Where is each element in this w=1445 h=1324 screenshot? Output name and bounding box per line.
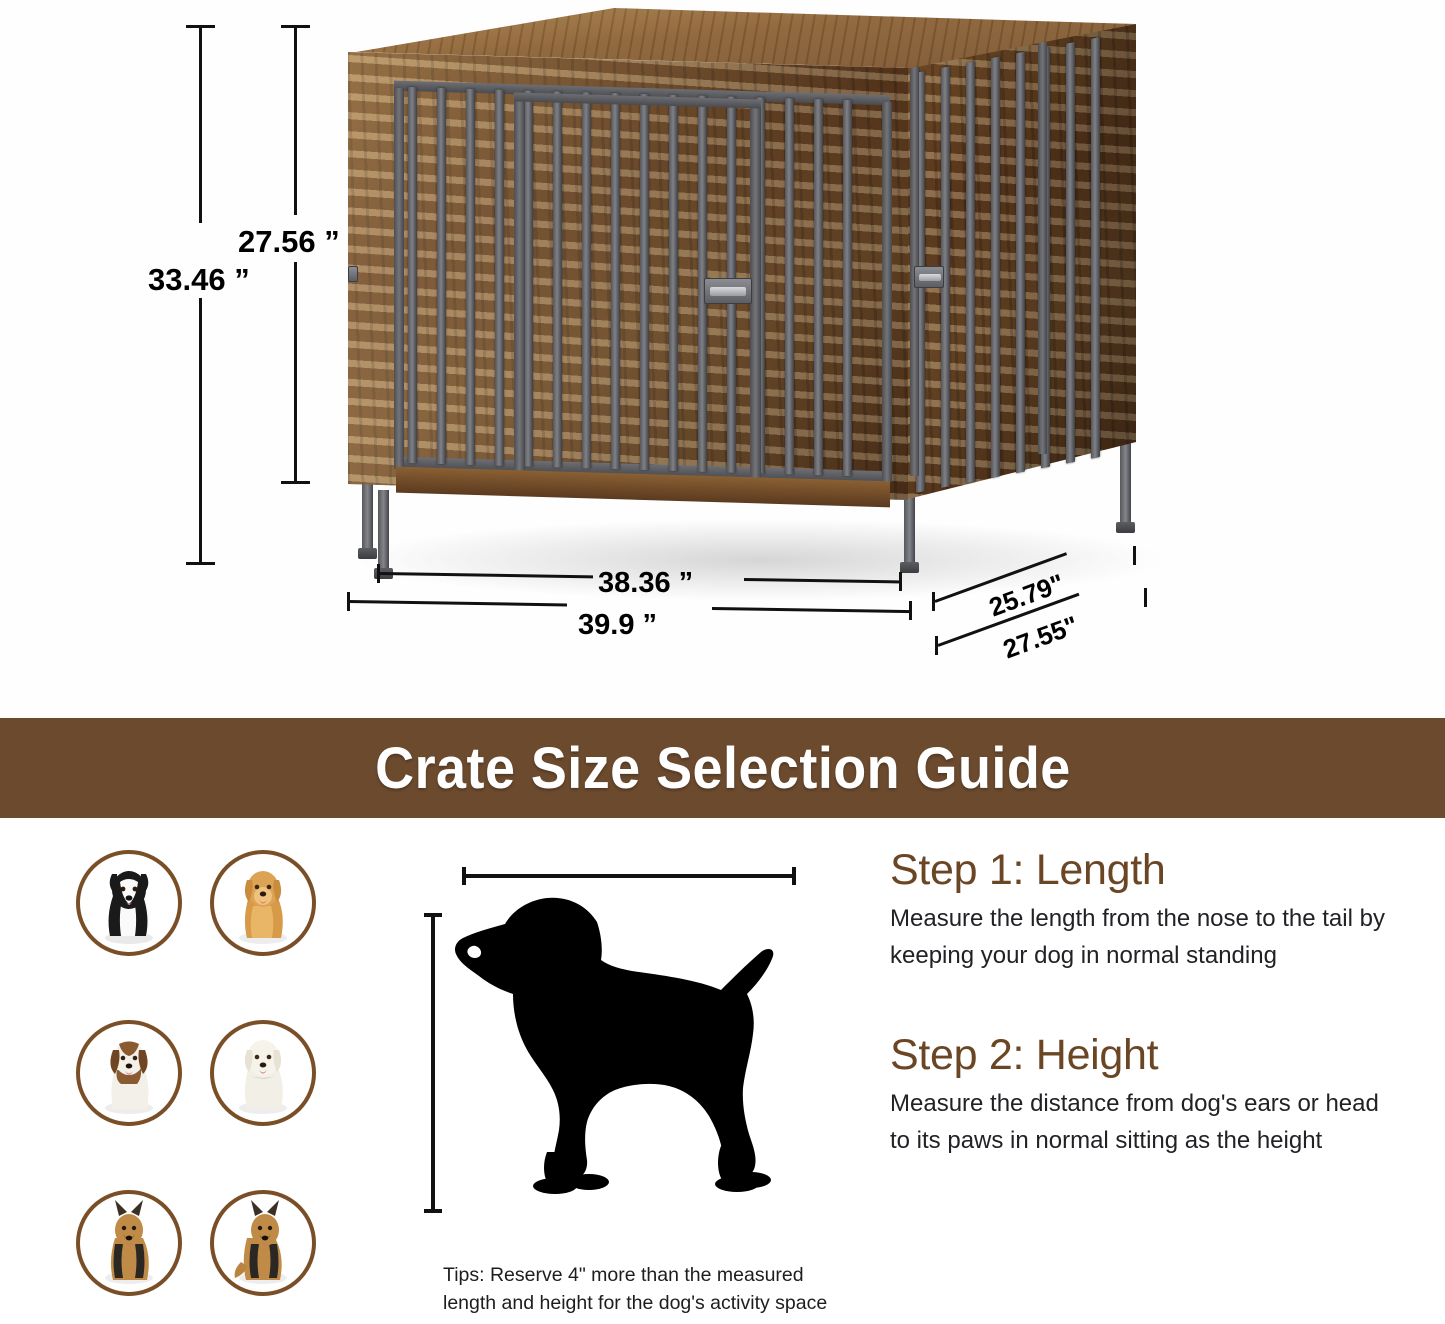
- side-bar: [991, 56, 1000, 478]
- dog-crate-product-image: [338, 8, 1138, 628]
- border-collie-icon: [93, 860, 165, 946]
- breed-circle-border-collie: [76, 850, 182, 956]
- german-shepherd-icon: [227, 1200, 299, 1286]
- front-bar: [669, 95, 678, 471]
- front-bar: [843, 100, 852, 476]
- dim-38-cap-left: [377, 564, 380, 583]
- front-bar: [814, 99, 823, 475]
- crate-leg-front-left: [378, 490, 389, 572]
- dim-2755-cap-left: [935, 636, 938, 655]
- side-bar: [1016, 52, 1025, 474]
- side-bar: [966, 61, 975, 483]
- crate-foot-right: [1116, 522, 1135, 533]
- dim-27h-line-upper: [294, 25, 297, 215]
- front-bar: [553, 91, 562, 467]
- front-door-hinge-post: [514, 96, 525, 478]
- crate-front-bars: [408, 87, 880, 477]
- front-bar: [466, 89, 475, 465]
- left-side-hinge: [348, 266, 358, 282]
- front-bar: [611, 93, 620, 469]
- german-shepherd-icon: [93, 1200, 165, 1286]
- length-measure-bar: [462, 874, 796, 878]
- front-bar: [524, 90, 533, 466]
- step-block-2: Step 2: Height Measure the distance from…: [890, 1031, 1400, 1160]
- step-1-body: Measure the length from the nose to the …: [890, 901, 1400, 975]
- step-1-title: Step 1: Length: [890, 846, 1400, 895]
- dim-2579-cap-left: [932, 592, 935, 611]
- side-bar: [1066, 42, 1075, 464]
- step-2-title: Step 2: Height: [890, 1031, 1400, 1080]
- section-banner: Crate Size Selection Guide: [0, 718, 1445, 818]
- dim-27h-cap-top: [281, 25, 310, 28]
- dim-33-cap-bottom: [186, 562, 215, 565]
- breed-circle-white-labrador: [210, 1020, 316, 1126]
- front-opening-left-post: [394, 88, 404, 468]
- dim-label-overall-height: 33.46 ”: [148, 262, 250, 298]
- front-bar: [640, 94, 649, 470]
- breed-circle-german-shepherd-2: [210, 1190, 316, 1296]
- infographic-root: 33.46 ” 27.56 ” 38.36 ” 39.9 ” 25.79" 27…: [0, 0, 1445, 1324]
- measurement-steps: Step 1: Length Measure the length from t…: [890, 846, 1400, 1160]
- dim-33-line-upper: [199, 25, 202, 223]
- crate-foot-back-left: [358, 548, 377, 559]
- breed-circle-grid: [76, 850, 326, 1300]
- front-door-latch-pin: [710, 287, 746, 296]
- side-door-frame-right: [1038, 42, 1047, 454]
- dim-label-inner-height: 27.56 ”: [238, 224, 340, 260]
- crate-side-bars: [916, 31, 1130, 493]
- crate-foot-mid: [900, 562, 919, 573]
- front-door-latch[interactable]: [704, 278, 752, 304]
- tips-text: Tips: Reserve 4" more than the measured …: [443, 1261, 833, 1318]
- step-2-body: Measure the distance from dog's ears or …: [890, 1086, 1400, 1160]
- front-opening-right-post: [882, 102, 892, 482]
- front-bar: [582, 92, 591, 468]
- front-bar: [495, 90, 504, 466]
- side-door-latch[interactable]: [914, 266, 944, 288]
- breed-circle-beagle: [76, 1020, 182, 1126]
- step-block-1: Step 1: Length Measure the length from t…: [890, 846, 1400, 975]
- dog-measurement-diagram: [415, 838, 835, 1258]
- dim-label-inner-width: 38.36 ”: [598, 567, 693, 600]
- height-measure-bar: [431, 913, 435, 1213]
- dim-38-cap-right: [899, 572, 902, 591]
- dim-33-line-lower: [199, 298, 202, 565]
- crate-size-guide-section: Tips: Reserve 4" more than the measured …: [0, 818, 1445, 1324]
- dim-399-cap-right: [909, 601, 912, 620]
- front-bar: [785, 98, 794, 474]
- breed-circle-german-shepherd-1: [76, 1190, 182, 1296]
- side-door-latch-pin: [919, 274, 941, 281]
- dim-399-cap-left: [347, 592, 350, 611]
- dim-27h-line-lower: [294, 262, 297, 484]
- crate-leg-back-left: [362, 478, 373, 552]
- golden-retriever-icon: [227, 860, 299, 946]
- dim-label-overall-width: 39.9 ”: [578, 609, 657, 642]
- dim-2755-cap-right: [1144, 588, 1147, 607]
- side-bar: [1091, 37, 1100, 459]
- beagle-icon: [93, 1030, 165, 1116]
- banner-title: Crate Size Selection Guide: [375, 735, 1071, 802]
- dim-27h-cap-bottom: [281, 481, 310, 484]
- product-dimension-section: 33.46 ” 27.56 ” 38.36 ” 39.9 ” 25.79" 27…: [0, 0, 1445, 718]
- white-labrador-icon: [227, 1030, 299, 1116]
- breed-circle-golden-retriever: [210, 850, 316, 956]
- front-bar: [437, 88, 446, 464]
- dim-33-cap-top: [186, 25, 215, 28]
- front-bar: [408, 87, 417, 463]
- dim-2579-cap-right: [1133, 546, 1136, 565]
- dog-silhouette-icon: [451, 894, 817, 1224]
